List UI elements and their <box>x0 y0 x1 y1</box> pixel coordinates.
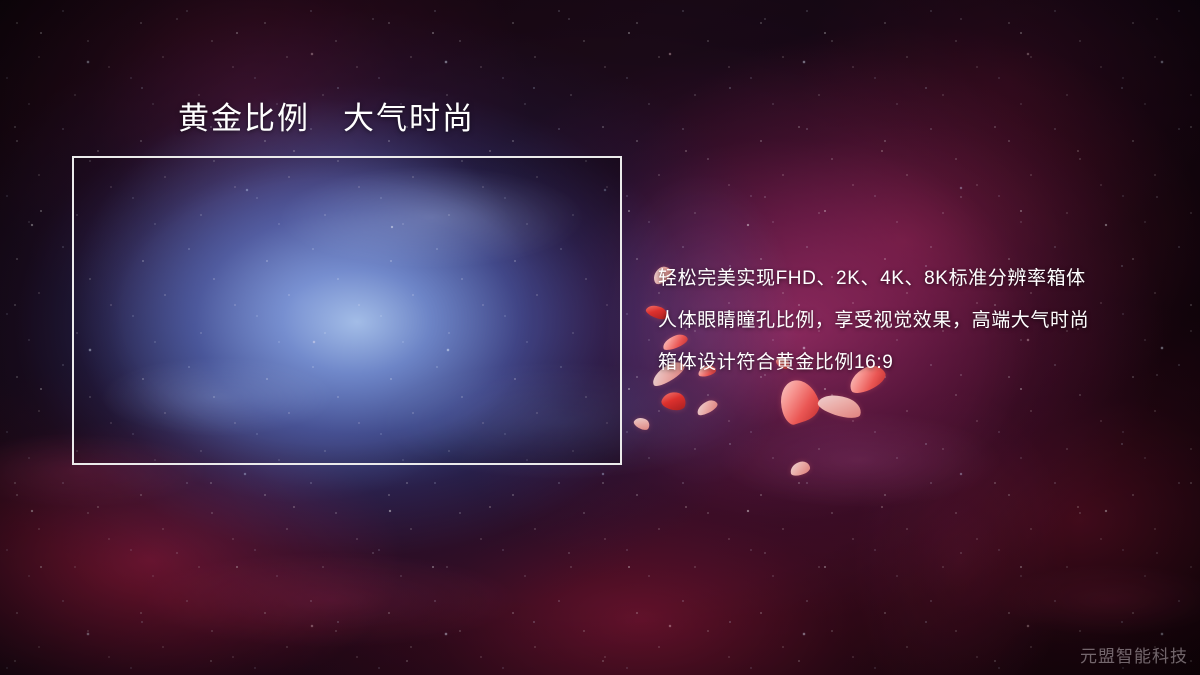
frame-inner-vignette <box>72 156 622 465</box>
feature-description: 轻松完美实现FHD、2K、4K、8K标准分辨率箱体 人体眼睛瞳孔比例，享受视觉效… <box>658 258 1178 384</box>
description-line: 轻松完美实现FHD、2K、4K、8K标准分辨率箱体 <box>658 258 1178 300</box>
display-preview-frame <box>72 156 622 465</box>
presentation-slide: 黄金比例 大气时尚 轻松完美实现FHD、2K、4K、8K标准分辨率箱体 人体眼睛… <box>0 0 1200 675</box>
company-watermark: 元盟智能科技 <box>1080 642 1188 667</box>
description-line: 人体眼睛瞳孔比例，享受视觉效果，高端大气时尚 <box>658 300 1178 342</box>
page-title: 黄金比例 大气时尚 <box>178 100 475 139</box>
description-line: 箱体设计符合黄金比例16:9 <box>658 342 1178 384</box>
